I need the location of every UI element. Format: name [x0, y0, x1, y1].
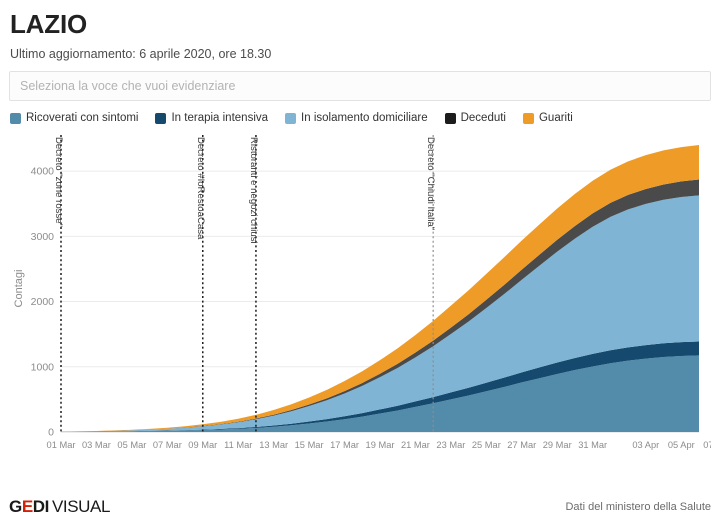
legend-item-label: Ricoverati con sintomi — [26, 112, 138, 124]
x-axis-tick-label: 03 Mar — [82, 440, 111, 450]
chart-legend: Ricoverati con sintomiIn terapia intensi… — [9, 112, 711, 124]
footer: GEDIVISUAL Dati del ministero della Salu… — [9, 492, 711, 522]
legend-item[interactable]: In isolamento domiciliare — [285, 112, 428, 124]
y-axis-tick-label: 2000 — [31, 296, 55, 308]
x-axis-tick-label: 29 Mar — [543, 440, 572, 450]
annotation-label: Ristoranti e negozi chiusi — [248, 137, 259, 244]
legend-item-label: In isolamento domiciliare — [301, 112, 428, 124]
legend-item-label: Guariti — [539, 112, 573, 124]
x-axis-tick-label: 09 Mar — [188, 440, 217, 450]
x-axis-tick-label: 07 Apr — [703, 440, 711, 450]
annotation-label: Decreto "Chiudi Italia" — [425, 137, 436, 230]
page-title: LAZIO — [10, 9, 711, 39]
annotation-label: Decreto #IoRestoaCasa — [195, 137, 206, 240]
x-axis-tick-label: 11 Mar — [224, 440, 252, 450]
legend-swatch-icon — [10, 113, 21, 124]
y-axis-tick-label: 1000 — [31, 361, 55, 373]
data-source-credit: Dati del ministero della Salute — [565, 501, 711, 513]
stacked-area-chart[interactable]: 01000200030004000Contagi01 Mar03 Mar05 M… — [9, 133, 711, 458]
legend-item[interactable]: Ricoverati con sintomi — [10, 112, 138, 124]
x-axis-tick-label: 01 Mar — [47, 440, 76, 450]
x-axis-tick-label: 13 Mar — [259, 440, 288, 450]
annotation-label: Decreto "zone rosse" — [53, 137, 64, 227]
last-update-text: Ultimo aggiornamento: 6 aprile 2020, ore… — [10, 47, 711, 62]
x-axis-tick-label: 17 Mar — [330, 440, 359, 450]
x-axis-tick-label: 05 Apr — [668, 440, 695, 450]
legend-swatch-icon — [445, 113, 456, 124]
logo-letter-e: E — [22, 497, 33, 516]
x-axis-tick-label: 03 Apr — [632, 440, 659, 450]
x-axis-tick-label: 15 Mar — [295, 440, 324, 450]
y-axis-tick-label: 4000 — [31, 166, 55, 178]
highlight-series-placeholder: Seleziona la voce che vuoi evidenziare — [20, 79, 235, 93]
legend-item-label: In terapia intensiva — [171, 112, 268, 124]
x-axis-tick-label: 25 Mar — [472, 440, 501, 450]
x-axis-tick-label: 21 Mar — [401, 440, 430, 450]
highlight-series-select[interactable]: Seleziona la voce che vuoi evidenziare — [9, 71, 711, 101]
legend-item[interactable]: In terapia intensiva — [155, 112, 268, 124]
y-axis-tick-label: 3000 — [31, 231, 55, 243]
x-axis-tick-label: 27 Mar — [507, 440, 536, 450]
y-axis-tick-label: 0 — [48, 427, 54, 439]
x-axis-tick-label: 05 Mar — [117, 440, 146, 450]
x-axis-tick-label: 23 Mar — [436, 440, 465, 450]
legend-swatch-icon — [285, 113, 296, 124]
x-axis-tick-label: 19 Mar — [366, 440, 395, 450]
covid-region-chart-widget: LAZIO Ultimo aggiornamento: 6 aprile 202… — [0, 9, 720, 531]
x-axis-tick-label: 31 Mar — [578, 440, 607, 450]
legend-item-label: Deceduti — [461, 112, 506, 124]
y-axis-title: Contagi — [13, 270, 25, 308]
logo-letter-g: G — [9, 497, 22, 516]
chart-area[interactable]: 01000200030004000Contagi01 Mar03 Mar05 M… — [9, 133, 711, 458]
legend-item[interactable]: Guariti — [523, 112, 573, 124]
legend-swatch-icon — [523, 113, 534, 124]
legend-swatch-icon — [155, 113, 166, 124]
legend-item[interactable]: Deceduti — [445, 112, 506, 124]
gedi-visual-logo: GEDIVISUAL — [9, 497, 110, 517]
x-axis-tick-label: 07 Mar — [153, 440, 182, 450]
logo-letters-di: DI — [33, 497, 49, 516]
logo-word-visual: VISUAL — [52, 497, 110, 516]
